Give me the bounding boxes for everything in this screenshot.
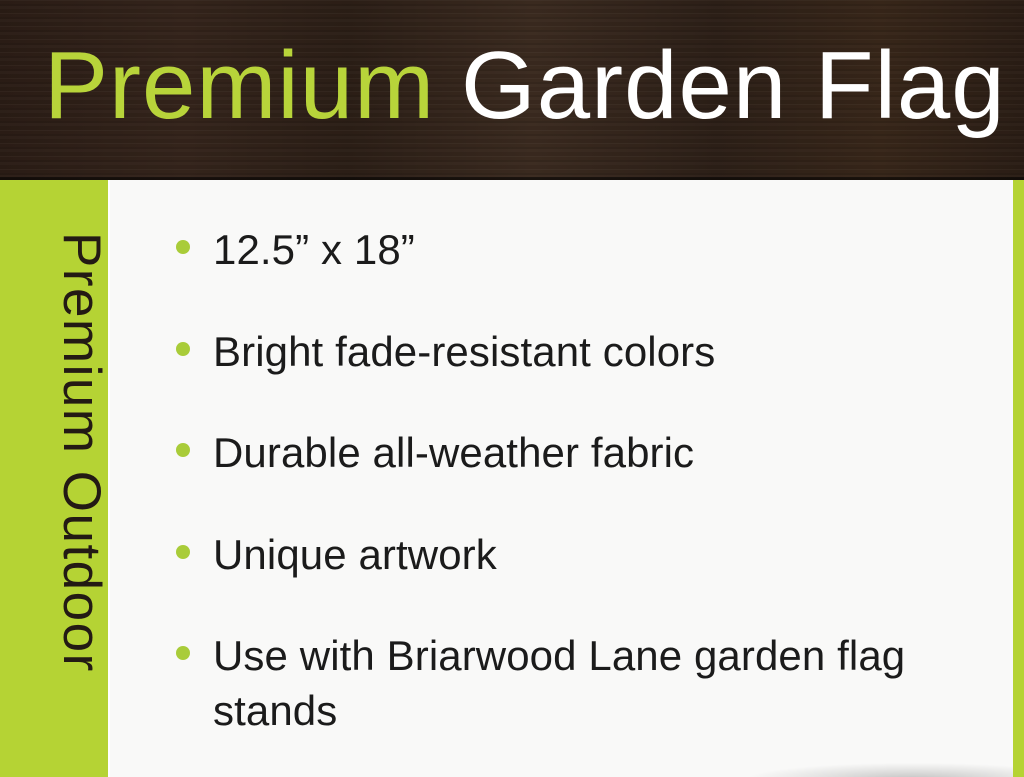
bullet-dot-icon xyxy=(176,545,190,559)
list-item-label: Use with Briarwood Lane garden flag stan… xyxy=(213,629,966,738)
list-item: Unique artwork xyxy=(176,528,966,583)
product-info-slide: Premium Garden Flag Premium Outdoor 12.5… xyxy=(0,0,1024,777)
bullet-dot-icon xyxy=(176,240,190,254)
list-item-label: Bright fade-resistant colors xyxy=(213,325,966,380)
bullet-dot-icon xyxy=(176,443,190,457)
bullet-dot-icon xyxy=(176,646,190,660)
feature-list: 12.5” x 18” Bright fade-resistant colors… xyxy=(176,223,966,739)
edge-strip xyxy=(1013,180,1024,777)
list-item-label: Unique artwork xyxy=(213,528,966,583)
list-item: Use with Briarwood Lane garden flag stan… xyxy=(176,629,966,738)
list-item: 12.5” x 18” xyxy=(176,223,966,278)
page-title-main: Garden Flag xyxy=(461,38,1006,134)
page-title-accent: Premium xyxy=(44,38,435,134)
bullet-dot-icon xyxy=(176,342,190,356)
bottom-shadow xyxy=(748,763,1013,777)
list-item-label: Durable all-weather fabric xyxy=(213,426,966,481)
content-panel: 12.5” x 18” Bright fade-resistant colors… xyxy=(108,180,1013,777)
list-item: Bright fade-resistant colors xyxy=(176,325,966,380)
side-band-label: Premium Outdoor xyxy=(55,232,108,673)
page-title: Premium Garden Flag xyxy=(44,16,1006,156)
header-banner: Premium Garden Flag xyxy=(0,0,1024,180)
list-item: Durable all-weather fabric xyxy=(176,426,966,481)
side-band: Premium Outdoor xyxy=(0,180,108,777)
list-item-label: 12.5” x 18” xyxy=(213,223,966,278)
